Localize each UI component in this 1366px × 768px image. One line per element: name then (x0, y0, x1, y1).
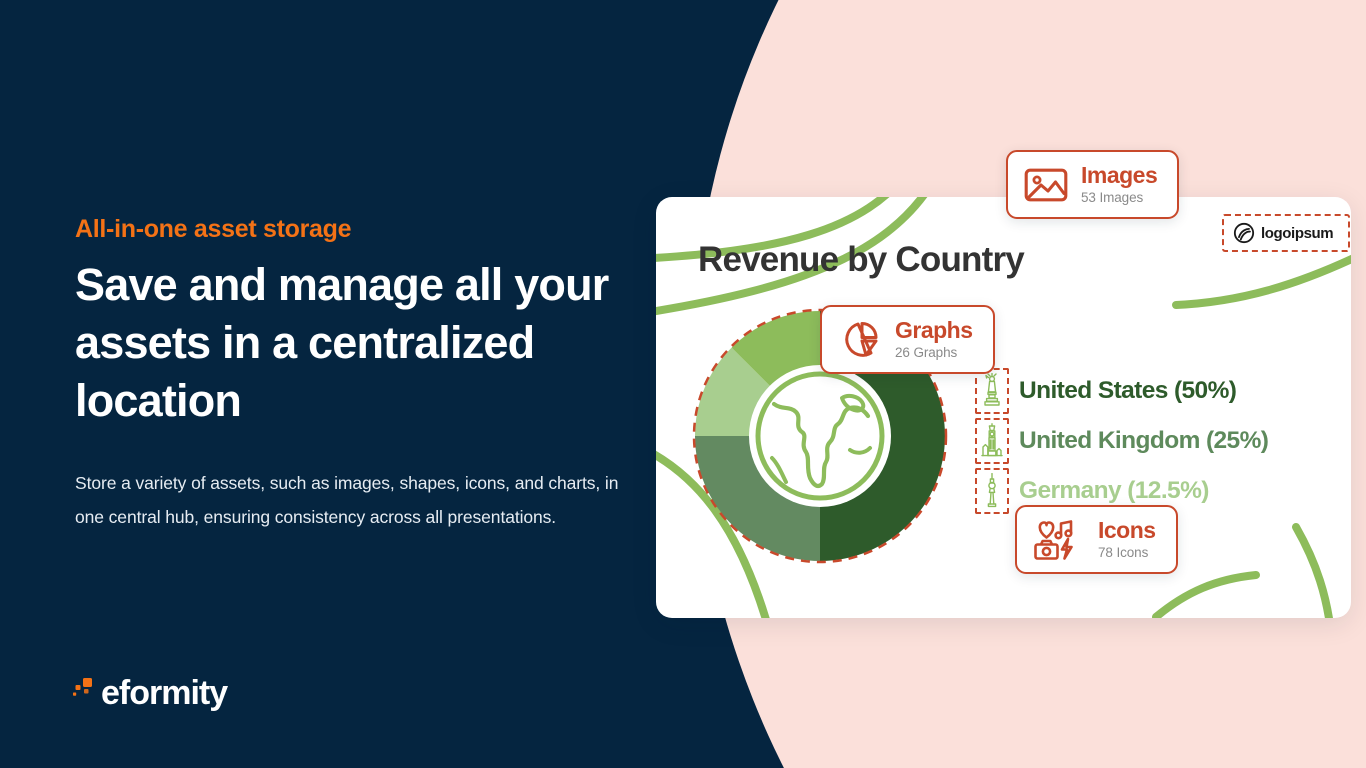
asset-badge-icons[interactable]: Icons 78 Icons (1015, 505, 1178, 574)
legend-label-united-states: United States (50%) (1019, 377, 1236, 405)
big-ben-icon (975, 418, 1009, 464)
hero-body-text: Store a variety of assets, such as image… (75, 466, 620, 534)
asset-badge-images[interactable]: Images 53 Images (1006, 150, 1179, 219)
image-icon (1024, 166, 1068, 204)
badge-text-group: Images 53 Images (1081, 163, 1157, 206)
tv-tower-icon (975, 468, 1009, 514)
logoipsum-asset-chip[interactable]: logoipsum (1222, 214, 1350, 252)
shapes-icon (1033, 520, 1085, 560)
badge-subtitle-icons: 78 Icons (1098, 544, 1156, 561)
badge-subtitle-graphs: 26 Graphs (895, 344, 973, 361)
logo-mark-icon (73, 676, 101, 710)
statue-of-liberty-icon (975, 368, 1009, 414)
swirl-circle-icon (1233, 222, 1255, 244)
slide-canvas: All-in-one asset storage Save and manage… (0, 0, 1366, 768)
brand-logo[interactable]: eformity (73, 676, 227, 710)
badge-title-images: Images (1081, 163, 1157, 188)
legend-item-united-states[interactable]: United States (50%) (975, 366, 1268, 416)
badge-text-group: Graphs 26 Graphs (895, 318, 973, 361)
badge-title-graphs: Graphs (895, 318, 973, 343)
hero-headline: Save and manage all your assets in a cen… (75, 256, 620, 430)
legend-label-united-kingdom: United Kingdom (25%) (1019, 427, 1268, 455)
legend-label-germany: Germany (12.5%) (1019, 477, 1209, 505)
badge-subtitle-images: 53 Images (1081, 189, 1157, 206)
chart-legend: United States (50%) (975, 366, 1268, 516)
card-title: Revenue by Country (698, 240, 1024, 280)
logoipsum-label: logoipsum (1261, 225, 1333, 242)
hero-text-column: All-in-one asset storage Save and manage… (75, 215, 620, 534)
badge-text-group: Icons 78 Icons (1098, 518, 1156, 561)
legend-item-united-kingdom[interactable]: United Kingdom (25%) (975, 416, 1268, 466)
asset-badge-graphs[interactable]: Graphs 26 Graphs (820, 305, 995, 374)
pie-chart-icon (838, 320, 882, 360)
badge-title-icons: Icons (1098, 518, 1156, 543)
logo-wordmark: eformity (101, 676, 227, 710)
hero-eyebrow: All-in-one asset storage (75, 215, 620, 244)
